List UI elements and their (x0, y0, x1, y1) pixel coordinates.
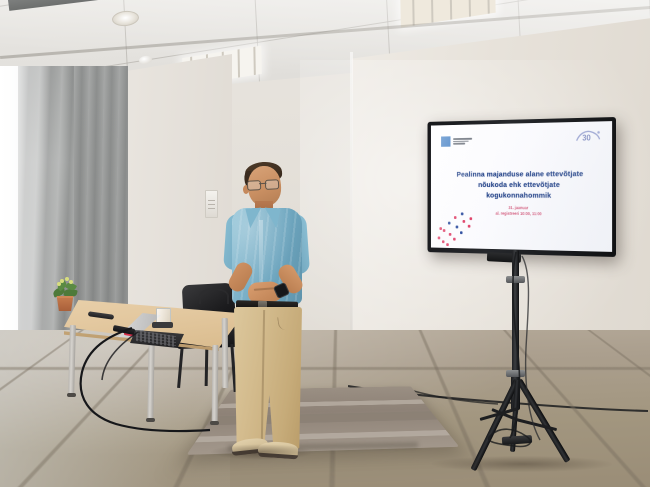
tv-tripod-stand[interactable] (440, 250, 600, 485)
tripod-cable (470, 250, 600, 450)
presenter-shadow (210, 444, 314, 460)
potted-plant-pot (56, 296, 74, 311)
table-cable (60, 320, 230, 440)
slide-title-line: kogukonnahommik (448, 190, 593, 201)
organisation-logo (441, 136, 472, 147)
slide-title-line: Pealinna majanduse alane ettevõtjate (448, 168, 593, 179)
room-photo: 30 Pealinna majanduse alane ettevõtjate … (0, 0, 650, 487)
tv-bezel: 30 Pealinna majanduse alane ettevõtjate … (428, 117, 616, 257)
presentation-tv[interactable]: 30 Pealinna majanduse alane ettevõtjate … (428, 117, 616, 257)
tv-screen[interactable]: 30 Pealinna majanduse alane ettevõtjate … (431, 121, 612, 252)
logo-wordmark (453, 138, 472, 145)
svg-text:30: 30 (582, 133, 590, 143)
slide-title-line: nõukoda ehk ettevõtjate (448, 179, 593, 190)
glasses-icon (247, 179, 279, 189)
presenter (214, 160, 326, 450)
logo-mark-icon (441, 136, 450, 146)
slide-title: Pealinna majanduse alane ettevõtjate nõu… (448, 168, 593, 201)
slide-decorative-dots (434, 208, 481, 246)
anniversary-badge-icon: 30 (574, 128, 603, 144)
tripod-shadow (432, 456, 612, 472)
